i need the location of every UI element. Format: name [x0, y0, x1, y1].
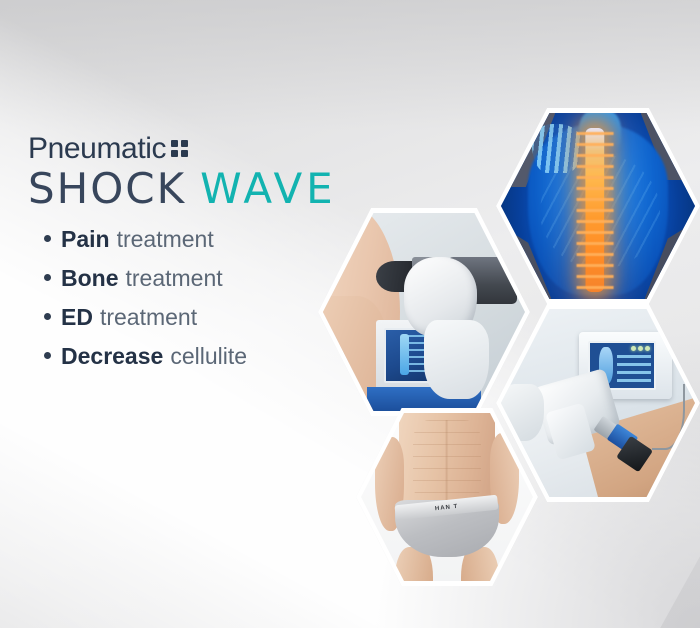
logo-pneumatic-text: Pneumatic [28, 134, 166, 164]
hex-image-back-therapy [318, 208, 530, 416]
feature-rest: cellulite [170, 345, 247, 368]
back-therapy-photo [323, 213, 525, 411]
logo-bottom-row: SHOCKWAVE [28, 168, 337, 210]
feature-bold: ED [61, 306, 93, 329]
logo-wave-text: WAVE [200, 164, 337, 213]
feature-bold: Bone [61, 267, 119, 290]
logo-shock-text: SHOCK [28, 164, 186, 213]
logo-top-row: Pneumatic [28, 134, 337, 164]
promo-banner: Pneumatic SHOCKWAVE Pain treatment Bone … [0, 0, 700, 628]
feature-rest: treatment [100, 306, 197, 329]
list-item: Bone treatment [44, 267, 247, 290]
feature-bold: Pain [61, 228, 110, 251]
bullet-dot-icon [44, 352, 51, 359]
list-item: Pain treatment [44, 228, 247, 251]
bullet-dot-icon [44, 235, 51, 242]
list-item: Decrease cellulite [44, 345, 247, 368]
hex-image-ed-torso: HAN T [356, 408, 538, 586]
product-logo: Pneumatic SHOCKWAVE [28, 134, 337, 210]
hex-image-spine-xray [496, 108, 700, 304]
four-square-grid-icon [171, 140, 188, 157]
bullet-dot-icon [44, 274, 51, 281]
feature-rest: treatment [126, 267, 223, 290]
feature-rest: treatment [117, 228, 214, 251]
waistband-text: HAN T [435, 504, 459, 512]
bullet-dot-icon [44, 313, 51, 320]
gloved-hand [501, 384, 544, 440]
hex-image-device-treatment [496, 304, 700, 502]
feature-bold: Decrease [61, 345, 163, 368]
led-indicator-icons [631, 346, 650, 351]
image-collage: HAN T [318, 108, 700, 586]
list-item: ED treatment [44, 306, 247, 329]
feature-list: Pain treatment Bone treatment ED treatme… [44, 228, 247, 384]
